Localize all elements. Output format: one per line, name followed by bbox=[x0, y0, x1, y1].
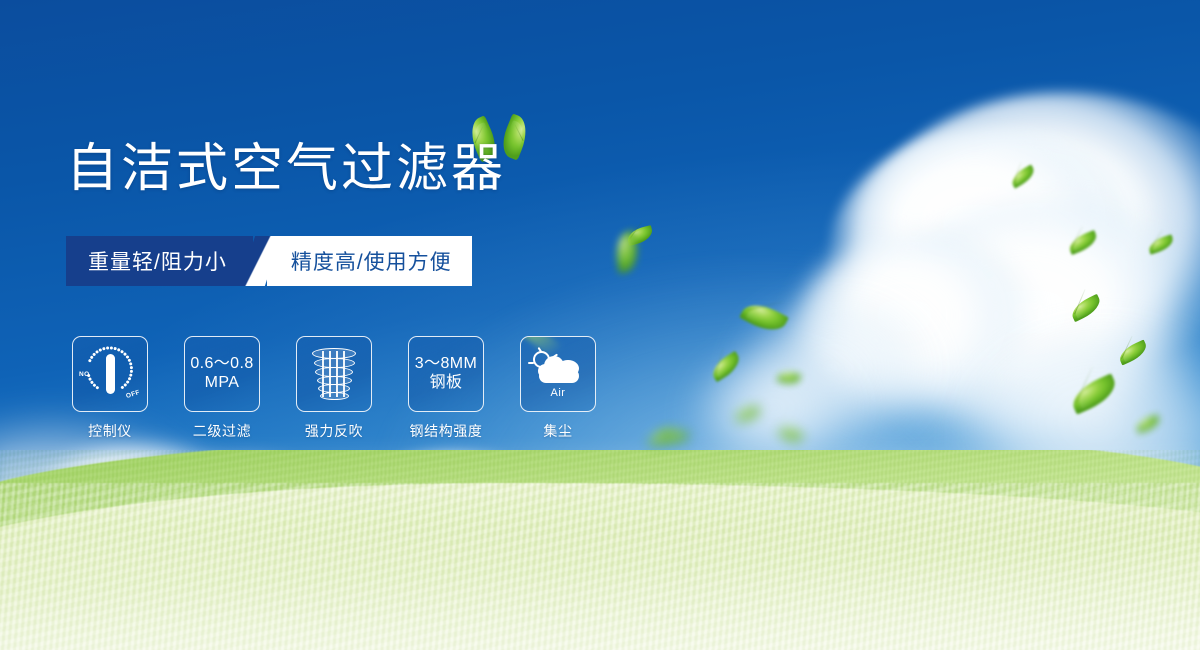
tagline-secondary: 精度高/使用方便 bbox=[267, 236, 472, 286]
feature-list: NO OFF 控制仪 0.6～0.8 MPA 二级过滤 bbox=[72, 336, 596, 441]
feature-badge bbox=[296, 336, 372, 412]
feature-item-secondary-filter[interactable]: 0.6～0.8 MPA 二级过滤 bbox=[184, 336, 260, 441]
gauge-icon: NO OFF bbox=[79, 345, 141, 403]
feature-label: 集尘 bbox=[520, 421, 596, 441]
page-title: 自洁式空气过滤器 bbox=[66, 143, 506, 195]
pressure-text-icon: 0.6～0.8 MPA bbox=[190, 355, 253, 393]
feature-label: 强力反吹 bbox=[296, 421, 372, 441]
cloud-base bbox=[539, 369, 579, 383]
gauge-dial bbox=[87, 347, 133, 393]
product-banner: 自洁式空气过滤器 重量轻/阻力小 精度高/使用方便 bbox=[0, 0, 1200, 650]
steel-plate-text-icon: 3～8MM 钢板 bbox=[415, 355, 477, 393]
tagline-primary: 重量轻/阻力小 bbox=[66, 236, 253, 286]
grass-hill-near bbox=[0, 483, 1200, 650]
coil-filter-icon bbox=[310, 347, 358, 401]
feature-item-controller[interactable]: NO OFF 控制仪 bbox=[72, 336, 148, 441]
feature-badge: 3～8MM 钢板 bbox=[408, 336, 484, 412]
feature-item-reverse-blow[interactable]: 强力反吹 bbox=[296, 336, 372, 441]
air-label: Air bbox=[551, 387, 566, 399]
gauge-needle bbox=[106, 354, 115, 394]
feature-badge: Air bbox=[520, 336, 596, 412]
feature-label: 二级过滤 bbox=[184, 421, 260, 441]
feature-badge: 0.6～0.8 MPA bbox=[184, 336, 260, 412]
grass-field bbox=[0, 450, 1200, 650]
tagline-row: 重量轻/阻力小 精度高/使用方便 bbox=[66, 236, 472, 286]
cloud-air-icon bbox=[532, 350, 584, 384]
feature-badge: NO OFF bbox=[72, 336, 148, 412]
feature-label: 钢结构强度 bbox=[408, 421, 484, 441]
gauge-label-no: NO bbox=[79, 371, 90, 378]
feature-item-steel-strength[interactable]: 3～8MM 钢板 钢结构强度 bbox=[408, 336, 484, 441]
feature-label: 控制仪 bbox=[72, 421, 148, 441]
feature-item-dust-collection[interactable]: Air 集尘 bbox=[520, 336, 596, 441]
